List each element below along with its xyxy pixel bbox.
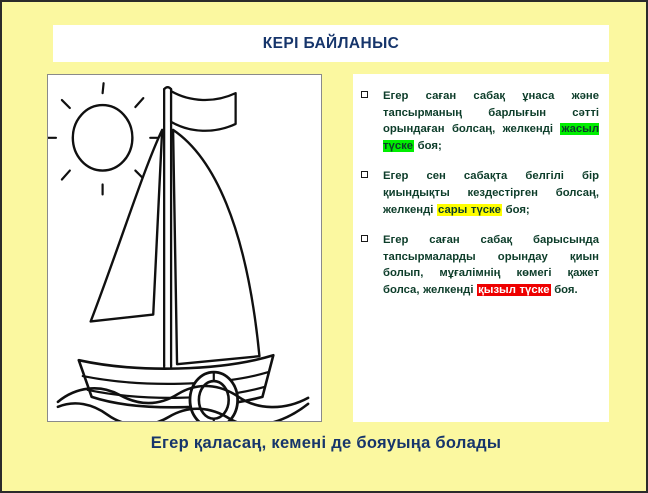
list-item: Егер саған сабақ ұнаса және тапсырманың … xyxy=(361,88,599,154)
instructions-panel: Егер саған сабақ ұнаса және тапсырманың … xyxy=(353,74,609,422)
square-outline-icon xyxy=(361,232,383,245)
footer-caption: Егер қаласаң, кемені де бояуыңа болады xyxy=(2,434,648,453)
instruction-text-red: Егер саған сабақ барысында тапсырмаларды… xyxy=(383,232,599,298)
title-bar: КЕРІ БАЙЛАНЫС xyxy=(53,25,609,62)
instruction-post-text: боя; xyxy=(414,140,442,152)
instruction-text-yellow: Егер сен сабақта белгілі бір қиындықты к… xyxy=(383,168,599,218)
main-sail-icon xyxy=(173,130,259,364)
flag-icon xyxy=(171,91,236,131)
mast-icon xyxy=(164,87,171,365)
life-ring-icon xyxy=(190,372,238,421)
square-outline-icon xyxy=(361,168,383,181)
square-outline-icon xyxy=(361,88,383,101)
highlight-yellow: сары түске xyxy=(437,204,502,216)
instruction-post-text: боя; xyxy=(502,204,530,216)
page-title: КЕРІ БАЙЛАНЫС xyxy=(263,35,399,53)
instruction-post-text: боя. xyxy=(551,284,578,296)
highlight-red: қызыл түске xyxy=(477,284,550,296)
illustration-panel xyxy=(47,74,322,422)
list-item: Егер сен сабақта белгілі бір қиындықты к… xyxy=(361,168,599,218)
instruction-text-green: Егер саған сабақ ұнаса және тапсырманың … xyxy=(383,88,599,154)
sailboat-illustration xyxy=(48,75,321,421)
slide-frame: КЕРІ БАЙЛАНЫС xyxy=(0,0,648,493)
list-item: Егер саған сабақ барысында тапсырмаларды… xyxy=(361,232,599,298)
